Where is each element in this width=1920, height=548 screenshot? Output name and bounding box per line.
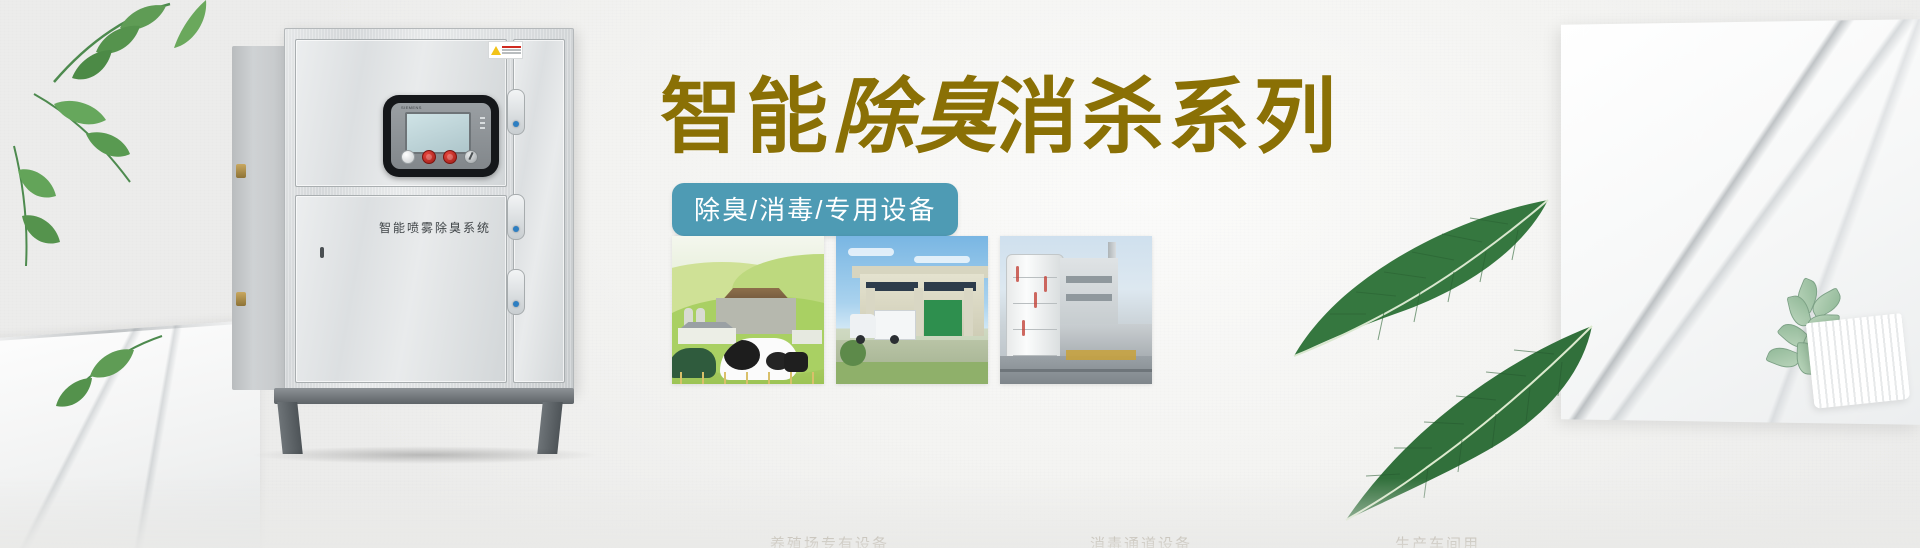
bottom-caption-row: 养殖场专有设备 消毒通道设备 生产车间用 — [0, 522, 1920, 548]
stop-button[interactable] — [443, 150, 457, 164]
start-button[interactable] — [422, 150, 436, 164]
power-button[interactable] — [401, 150, 415, 164]
cabinet-side-panel — [232, 46, 292, 390]
headline-part-1: 智能 — [660, 70, 832, 165]
bottom-caption-3: 生产车间用 — [1395, 533, 1480, 548]
cabinet-front-panel: SIEMENS 智能喷雾除臭系统 — [284, 28, 574, 392]
cabinet-keyhole — [320, 247, 324, 258]
thumbnail-disinfection-station[interactable] — [836, 236, 988, 384]
thumbnail-industrial-plant[interactable] — [1000, 236, 1152, 384]
leaf-sprig-lower-left-icon — [8, 140, 128, 270]
hmi-touchscreen[interactable] — [405, 112, 471, 154]
headline-part-2: 消杀系列 — [996, 70, 1340, 165]
cabinet-drop-shadow — [250, 446, 600, 464]
bottom-caption-1: 养殖场专有设备 — [770, 533, 889, 548]
white-ribbed-pot — [1806, 313, 1910, 409]
cabinet-handle-lower[interactable] — [507, 269, 525, 315]
hmi-control-panel[interactable]: SIEMENS — [383, 95, 499, 177]
cabinet-leg-left — [277, 402, 302, 454]
headline-brush-part: 除臭 — [832, 69, 996, 165]
selector-switch[interactable] — [464, 150, 478, 164]
bottom-caption-2: 消毒通道设备 — [1090, 533, 1192, 548]
hmi-faceplate: SIEMENS — [391, 103, 491, 169]
machine-cabinet: SIEMENS 智能喷雾除臭系统 — [232, 28, 580, 438]
cabinet-hinge-lower — [236, 292, 246, 306]
thumbnail-farm[interactable] — [672, 236, 824, 384]
thumbnail-strip — [672, 236, 1152, 384]
leaf-sprig-bottom-left-icon — [30, 330, 170, 420]
cabinet-leg-right — [537, 402, 562, 454]
hmi-brand-label: SIEMENS — [401, 105, 422, 110]
cabinet-handle-upper[interactable] — [507, 89, 525, 135]
electrical-warning-sticker-icon — [488, 41, 523, 59]
cabinet-name-label: 智能喷雾除臭系统 — [355, 219, 515, 236]
hmi-button-row[interactable] — [401, 150, 478, 164]
page-title: 智能除臭消杀系列 — [660, 76, 1340, 159]
cabinet-base — [274, 388, 574, 404]
subtitle-badge: 除臭/消毒/专用设备 — [672, 183, 958, 236]
banana-leaf-lower-icon — [1296, 322, 1596, 522]
hmi-status-leds — [480, 117, 485, 129]
cabinet-hinge-upper — [236, 164, 246, 178]
product-banner: SIEMENS 智能喷雾除臭系统 智能除臭消杀系列 除臭/消毒/ — [0, 0, 1920, 548]
